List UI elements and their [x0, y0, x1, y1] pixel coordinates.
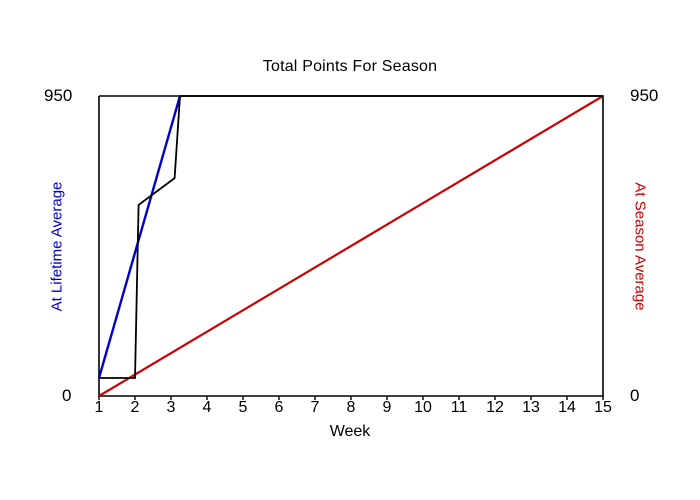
- x-axis-tick-label: 5: [228, 399, 258, 417]
- x-axis-tick-labels: 123456789101112131415: [0, 399, 700, 423]
- x-axis-tick-label: 10: [408, 399, 438, 417]
- y-axis-right-max-label: 950: [630, 86, 658, 106]
- x-axis-tick-label: 15: [588, 399, 618, 417]
- x-axis-tick-label: 2: [120, 399, 150, 417]
- series-line-lifetime-average: [99, 96, 180, 378]
- x-axis-tick-label: 1: [84, 399, 114, 417]
- chart-container: Total Points For Season 950 0 950 0 1234…: [0, 0, 700, 500]
- x-axis-tick-label: 12: [480, 399, 510, 417]
- x-axis-tick-label: 13: [516, 399, 546, 417]
- x-axis-tick-label: 11: [444, 399, 474, 417]
- y-axis-right-title: At Season Average: [632, 147, 649, 347]
- x-axis-tick-label: 4: [192, 399, 222, 417]
- x-axis-title: Week: [0, 423, 700, 441]
- series-step-actual: [99, 96, 603, 378]
- x-axis-tick-label: 3: [156, 399, 186, 417]
- y-axis-left-title: At Lifetime Average: [49, 147, 66, 347]
- x-axis-tick-label: 9: [372, 399, 402, 417]
- series-line-season-average: [99, 96, 603, 396]
- x-axis-tick-label: 14: [552, 399, 582, 417]
- y-axis-left-max-label: 950: [44, 86, 72, 106]
- x-axis-tick-label: 6: [264, 399, 294, 417]
- x-axis-tick-label: 7: [300, 399, 330, 417]
- x-axis-tick-label: 8: [336, 399, 366, 417]
